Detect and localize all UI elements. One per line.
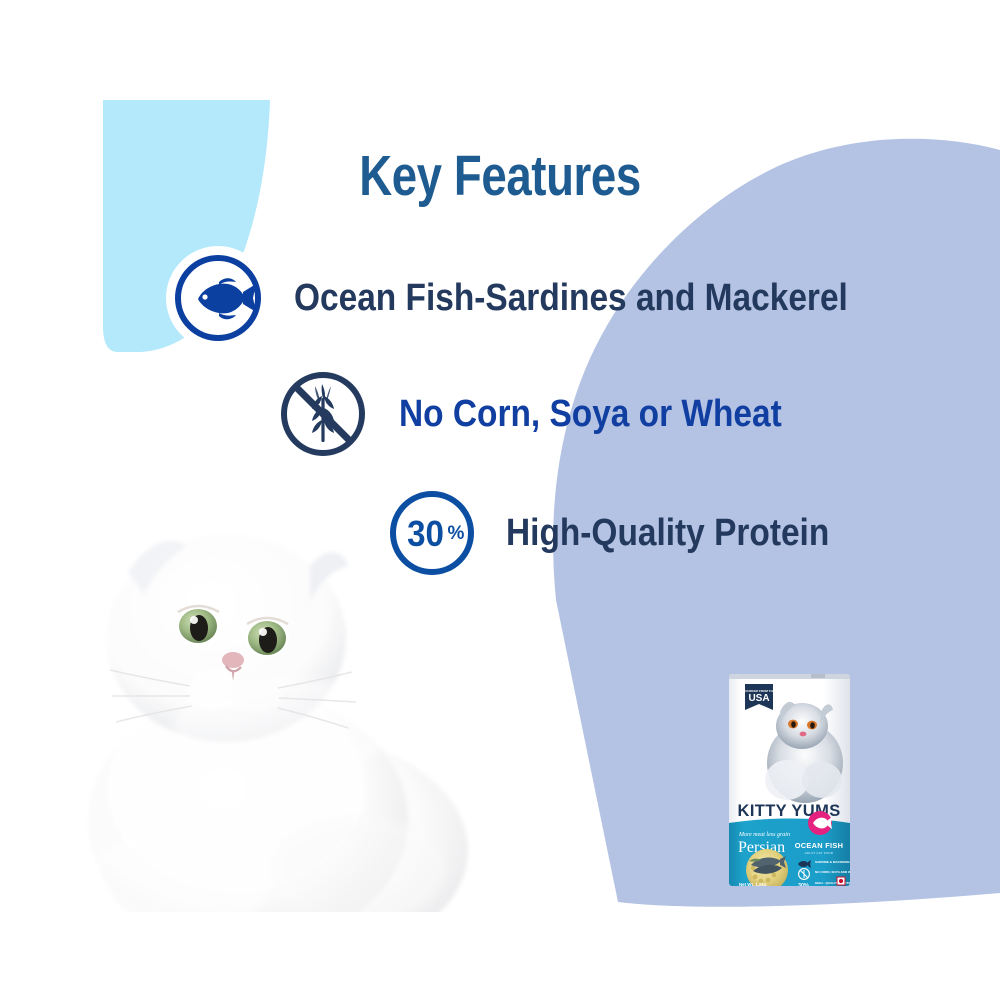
pack-net-weight: Net Wt. 1.2kg <box>739 882 767 887</box>
feature-row-protein: 30 % High-Quality Protein <box>386 487 873 579</box>
feature-label-no-grain: No Corn, Soya or Wheat <box>399 393 782 436</box>
pack-fish-roundel <box>808 811 832 835</box>
page-title: Key Features <box>100 143 900 209</box>
feature-label-ocean-fish: Ocean Fish-Sardines and Mackerel <box>294 277 848 320</box>
product-pack: SOURCED FROM THE USA KITTY YUMS <box>727 668 852 890</box>
nonveg-mark <box>837 877 845 885</box>
pack-tagline: More meat less grain <box>738 832 790 838</box>
no-wheat-icon <box>277 368 369 460</box>
cat-photo <box>58 520 488 960</box>
pack-feature-1: SARDINE & MACKEREL <box>815 860 851 864</box>
key-features-banner: Key Features Ocean Fish-Sardines and Mac… <box>0 0 1000 1000</box>
pack-protein-value: 30% <box>798 883 809 889</box>
feature-row-no-grain: No Corn, Soya or Wheat <box>277 368 834 460</box>
feature-row-ocean-fish: Ocean Fish-Sardines and Mackerel <box>172 252 923 344</box>
pack-flavour: OCEAN FISH <box>795 841 844 850</box>
protein-percent-icon: 30 % <box>386 487 478 579</box>
protein-badge-unit: % <box>448 523 465 544</box>
pack-flavour-sub: ADULT CAT FOOD <box>805 851 834 855</box>
feature-label-protein: High-Quality Protein <box>506 512 829 555</box>
origin-badge-text: USA <box>748 693 769 704</box>
protein-badge-number: 30 <box>407 515 444 555</box>
pack-feature-3: HIGH - QUALITY PROTEIN <box>815 881 852 885</box>
fish-icon <box>172 252 264 344</box>
pack-feature-2: NO CORN, SOYA AND WHEAT <box>815 870 852 874</box>
